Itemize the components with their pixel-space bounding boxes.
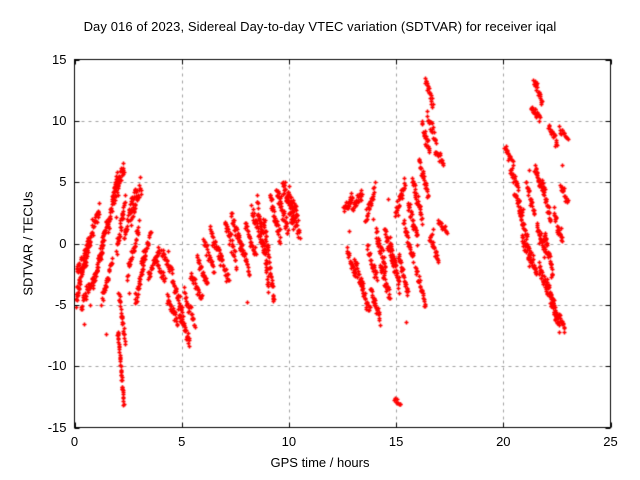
x-tick-label: 0 xyxy=(55,434,95,449)
y-tick-label: -15 xyxy=(27,420,67,435)
scatter-plot-canvas xyxy=(0,0,640,480)
y-tick-label: 10 xyxy=(27,113,67,128)
y-tick-label: 0 xyxy=(27,236,67,251)
x-tick-label: 15 xyxy=(376,434,416,449)
x-axis-label: GPS time / hours xyxy=(0,455,640,470)
x-tick-label: 5 xyxy=(162,434,202,449)
x-tick-label: 25 xyxy=(591,434,631,449)
y-tick-label: -5 xyxy=(27,297,67,312)
y-tick-label: -10 xyxy=(27,358,67,373)
y-tick-label: 15 xyxy=(27,52,67,67)
chart-root: Day 016 of 2023, Sidereal Day-to-day VTE… xyxy=(0,0,640,480)
x-tick-label: 10 xyxy=(269,434,309,449)
y-tick-label: 5 xyxy=(27,174,67,189)
x-tick-label: 20 xyxy=(483,434,523,449)
